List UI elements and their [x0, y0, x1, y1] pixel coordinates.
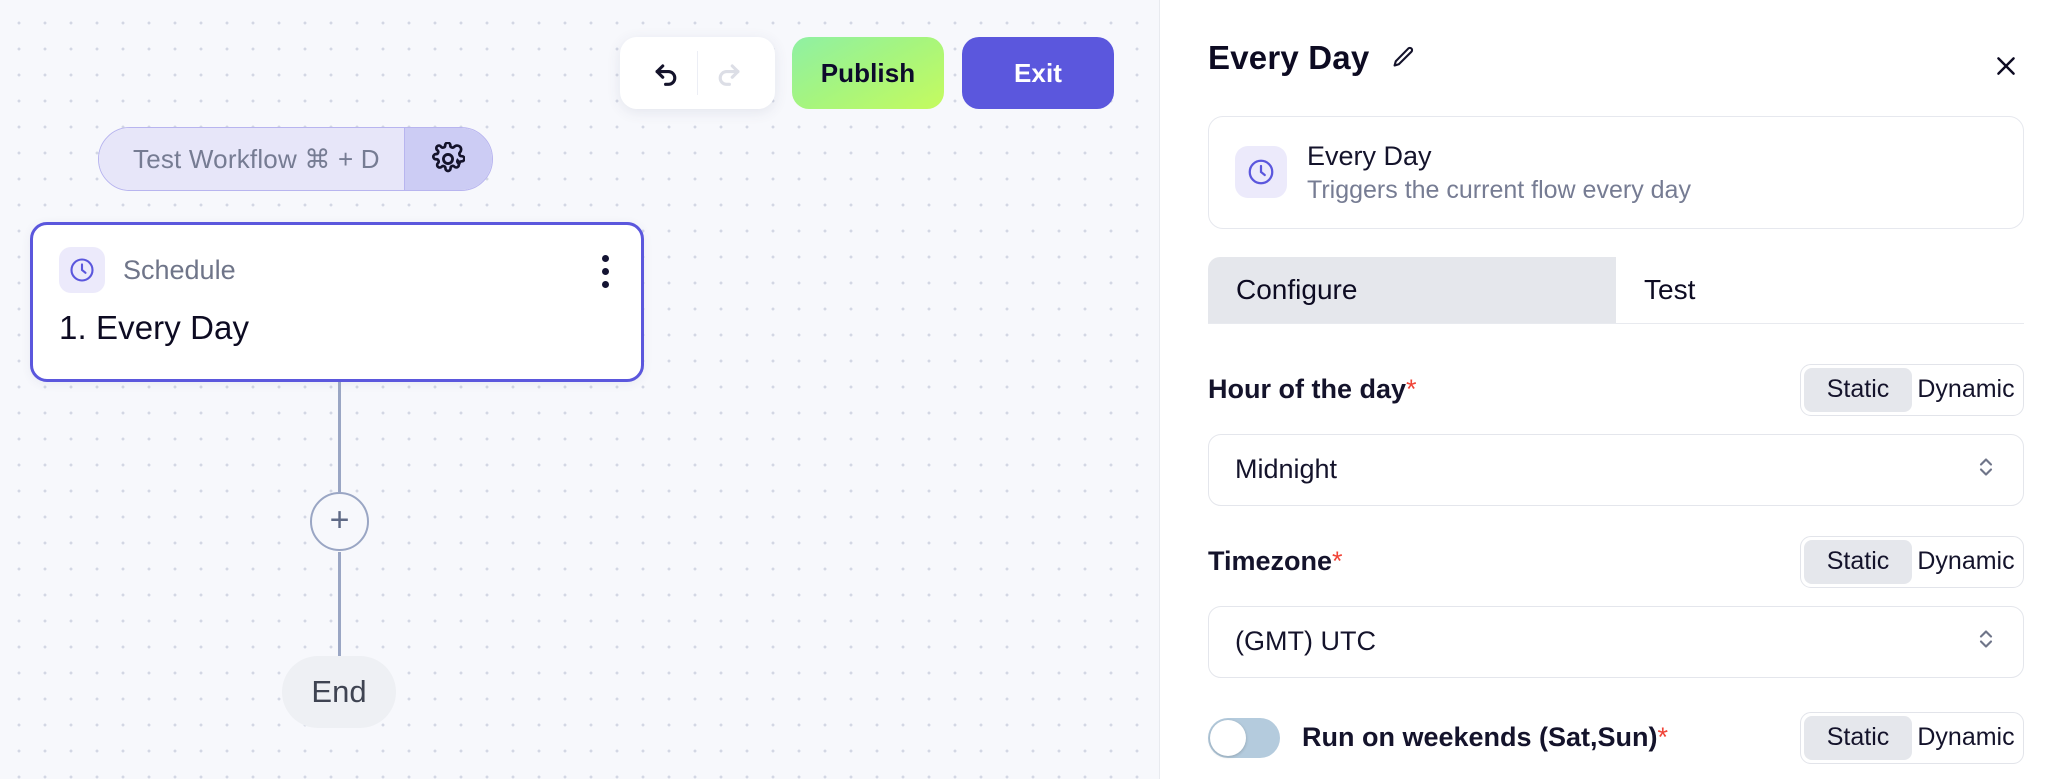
redo-button[interactable] — [698, 43, 758, 103]
required-asterisk: * — [1406, 374, 1417, 404]
close-panel-button[interactable] — [1984, 44, 2028, 88]
toggle-knob — [1210, 720, 1246, 756]
trigger-description: Triggers the current flow every day — [1307, 174, 1691, 206]
mode-dynamic-weekends[interactable]: Dynamic — [1912, 716, 2020, 760]
run-on-weekends-toggle[interactable] — [1208, 718, 1280, 758]
undo-button[interactable] — [637, 43, 697, 103]
panel-tabs: Configure Test — [1208, 257, 2024, 324]
timezone-value: (GMT) UTC — [1235, 626, 1376, 657]
field-run-on-weekends-row: Run on weekends (Sat,Sun)* Static Dynami… — [1208, 712, 2024, 764]
mode-toggle-hour: Static Dynamic — [1800, 364, 2024, 416]
hour-of-the-day-value: Midnight — [1235, 454, 1337, 485]
hour-of-the-day-select[interactable]: Midnight — [1208, 434, 2024, 506]
test-workflow-label: Test Workflow ⌘ + D — [99, 128, 404, 190]
end-node[interactable]: End — [282, 656, 396, 728]
timezone-select[interactable]: (GMT) UTC — [1208, 606, 2024, 678]
add-step-button[interactable]: + — [310, 492, 369, 551]
pencil-icon — [1389, 44, 1417, 72]
mode-dynamic-hour[interactable]: Dynamic — [1912, 368, 2020, 412]
label-text: Run on weekends (Sat,Sun) — [1302, 722, 1658, 752]
step-settings-panel: Every Day Every Day Trigge — [1159, 0, 2072, 779]
label-text: Hour of the day — [1208, 374, 1406, 404]
mode-static-hour[interactable]: Static — [1804, 368, 1912, 412]
required-asterisk: * — [1658, 722, 1669, 752]
page-title: Every Day — [1208, 39, 1369, 77]
undo-redo-group — [620, 37, 775, 109]
clock-icon — [1235, 146, 1287, 198]
mode-dynamic-timezone[interactable]: Dynamic — [1912, 540, 2020, 584]
node-title: 1. Every Day — [59, 309, 615, 347]
chevron-updown-icon — [1975, 452, 1997, 487]
field-label-hour-of-the-day: Hour of the day* — [1208, 374, 1417, 405]
field-label-run-on-weekends: Run on weekends (Sat,Sun)* — [1302, 722, 1668, 753]
edge-connector-upper — [338, 382, 341, 492]
label-text: Timezone — [1208, 546, 1332, 576]
chevron-updown-icon — [1975, 624, 1997, 659]
run-on-weekends-left: Run on weekends (Sat,Sun)* — [1208, 718, 1668, 758]
configure-form: Hour of the day* Static Dynamic Midnight — [1208, 324, 2024, 764]
rename-step-button[interactable] — [1385, 40, 1421, 76]
workflow-editor: Publish Exit Test Workflow ⌘ + D Sched — [0, 0, 2072, 779]
workflow-settings-button[interactable] — [404, 128, 492, 190]
clock-icon — [59, 247, 105, 293]
redo-arrow-icon — [711, 56, 745, 90]
close-icon — [1992, 52, 2020, 80]
publish-button[interactable]: Publish — [792, 37, 944, 109]
mode-toggle-weekends: Static Dynamic — [1800, 712, 2024, 764]
test-workflow-pill[interactable]: Test Workflow ⌘ + D — [98, 127, 493, 191]
node-header: Schedule — [59, 247, 615, 293]
field-label-timezone: Timezone* — [1208, 546, 1343, 577]
edge-connector-lower — [338, 552, 341, 662]
node-kind-label: Schedule — [123, 255, 236, 286]
trigger-info-text: Every Day Triggers the current flow ever… — [1307, 139, 1691, 206]
trigger-name: Every Day — [1307, 139, 1691, 174]
tab-configure[interactable]: Configure — [1208, 257, 1616, 323]
mode-static-timezone[interactable]: Static — [1804, 540, 1912, 584]
field-timezone-row: Timezone* Static Dynamic — [1208, 536, 2024, 588]
mode-static-weekends[interactable]: Static — [1804, 716, 1912, 760]
undo-arrow-icon — [650, 56, 684, 90]
required-asterisk: * — [1332, 546, 1343, 576]
gear-icon — [431, 142, 465, 176]
tab-test[interactable]: Test — [1616, 257, 2024, 323]
node-kebab-menu-icon[interactable] — [598, 251, 613, 292]
trigger-info-card: Every Day Triggers the current flow ever… — [1208, 116, 2024, 229]
workflow-canvas[interactable]: Publish Exit Test Workflow ⌘ + D Sched — [0, 0, 1159, 779]
panel-header: Every Day — [1208, 0, 2024, 116]
workflow-node-schedule[interactable]: Schedule 1. Every Day — [30, 222, 644, 382]
mode-toggle-timezone: Static Dynamic — [1800, 536, 2024, 588]
field-hour-of-the-day-row: Hour of the day* Static Dynamic — [1208, 364, 2024, 416]
exit-button[interactable]: Exit — [962, 37, 1114, 109]
